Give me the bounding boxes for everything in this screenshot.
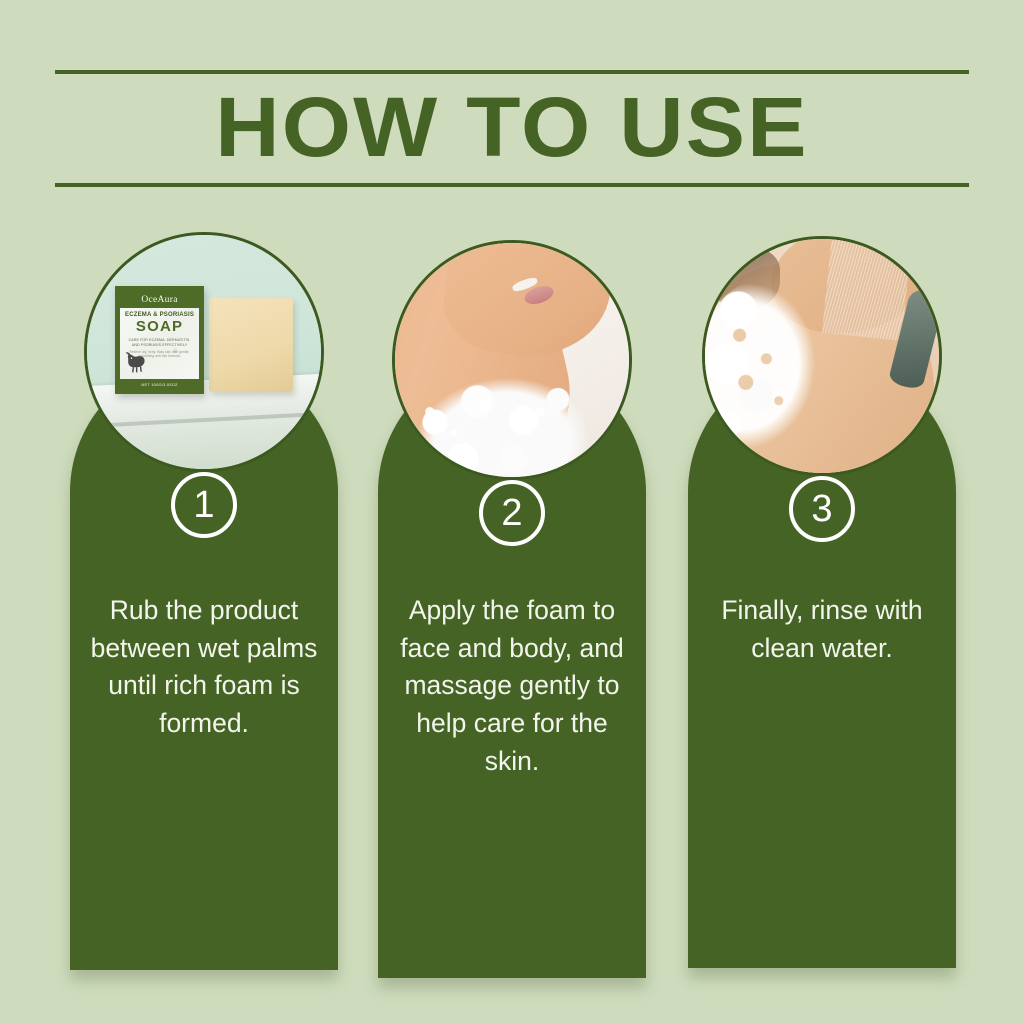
step-image-3 [702, 236, 942, 476]
rinsing-photo [705, 239, 939, 473]
step-badge-1: 1 [171, 472, 237, 538]
soap-package-box: OceAura ECZEMA & PSORIASIS SOAP CARE FOR… [115, 286, 204, 394]
step-description-1: Rub the product between wet palms until … [78, 592, 330, 743]
step-description-3: Finally, rinse with clean water. [696, 592, 948, 667]
package-brand: OceAura [120, 291, 199, 308]
package-front: ECZEMA & PSORIASIS SOAP CARE FOR ECZEMA,… [120, 308, 199, 379]
steps-container: OceAura ECZEMA & PSORIASIS SOAP CARE FOR… [0, 0, 1024, 1024]
step-image-2 [392, 240, 632, 480]
foam-application-photo [395, 243, 629, 477]
package-product-name: SOAP [136, 319, 183, 335]
step-badge-3: 3 [789, 476, 855, 542]
goat-icon [123, 349, 149, 375]
foam-bubbles [409, 374, 582, 468]
soap-bar [209, 298, 293, 392]
step-badge-2: 2 [479, 480, 545, 546]
step-description-2: Apply the foam to face and body, and mas… [386, 592, 638, 780]
package-claim: CARE FOR ECZEMA, DERMATITIS, AND PSORIAS… [126, 338, 192, 349]
package-net-weight: NET 100G/3.53OZ [120, 379, 199, 389]
water-stream [822, 236, 912, 341]
water-droplets [719, 309, 822, 440]
step-image-1: OceAura ECZEMA & PSORIASIS SOAP CARE FOR… [84, 232, 324, 472]
soap-product-photo: OceAura ECZEMA & PSORIASIS SOAP CARE FOR… [87, 235, 321, 469]
